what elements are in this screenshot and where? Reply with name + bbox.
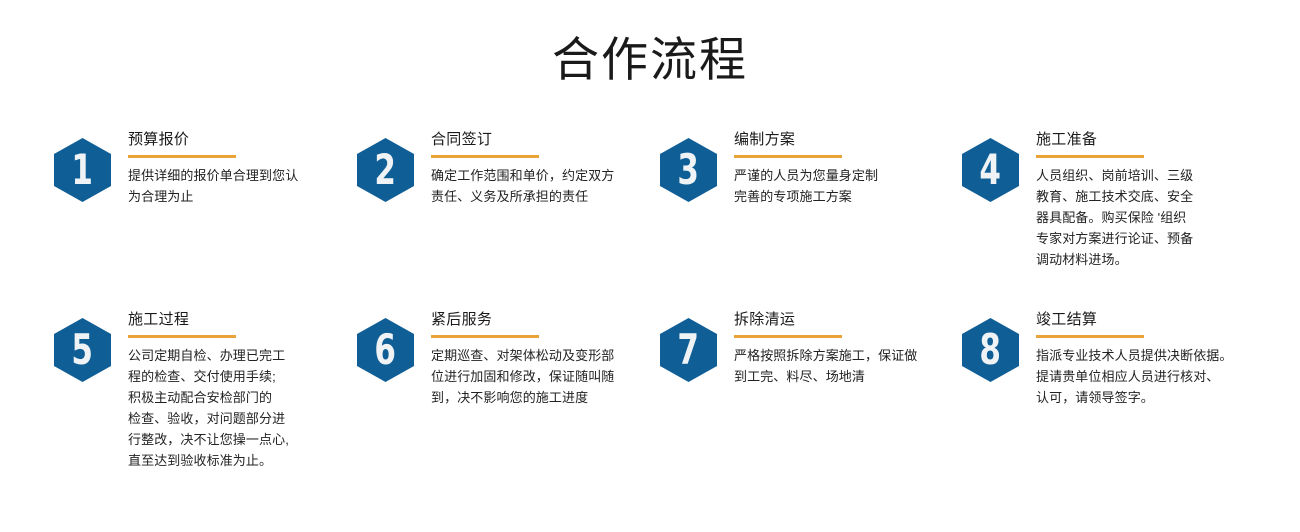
step-heading-1: 预算报价 (128, 130, 350, 150)
step-description-line: 严格按照拆除方案施工，保证做 (734, 345, 956, 366)
step-heading-3: 编制方案 (734, 130, 956, 150)
step-number-4: 4 (980, 149, 1002, 191)
hexagon-badge-8: 8 (962, 318, 1019, 382)
step-underline-4 (1036, 155, 1144, 158)
step-body-4: 施工准备 人员组织、岗前培训、三级 教育、施工技术交底、安全 器具配备。购买保险… (1036, 130, 1258, 270)
step-description-line: 责任、义务及所承担的责任 (431, 186, 653, 207)
process-step-4: 4 施工准备 人员组织、岗前培训、三级 教育、施工技术交底、安全 器具配备。购买… (958, 130, 1258, 300)
step-description-4: 人员组织、岗前培训、三级 教育、施工技术交底、安全 器具配备。购买保险 '组织 … (1036, 165, 1258, 270)
step-heading-5: 施工过程 (128, 310, 350, 330)
step-description-line: 器具配备。购买保险 '组织 (1036, 207, 1258, 228)
step-heading-2: 合同签订 (431, 130, 653, 150)
step-description-1: 提供详细的报价单合理到您认 为合理为止 (128, 165, 350, 207)
hexagon-badge-7: 7 (660, 318, 717, 382)
step-description-line: 专家对方案进行论证、预备 (1036, 228, 1258, 249)
step-description-line: 公司定期自检、办理已完工 (128, 345, 350, 366)
step-description-line: 提请贵单位相应人员进行核对、 (1036, 366, 1258, 387)
step-number-6: 6 (375, 329, 397, 371)
step-body-7: 拆除清运 严格按照拆除方案施工，保证做 到工完、料尽、场地清 (734, 310, 956, 387)
hexagon-badge-4: 4 (962, 138, 1019, 202)
step-underline-5 (128, 335, 236, 338)
process-step-6: 6 紧后服务 定期巡查、对架体松动及变形部 位进行加固和修改，保证随叫随 到，决… (353, 310, 653, 480)
step-description-2: 确定工作范围和单价，约定双方 责任、义务及所承担的责任 (431, 165, 653, 207)
hexagon-badge-3: 3 (660, 138, 717, 202)
process-step-5: 5 施工过程 公司定期自检、办理已完工 程的检查、交付使用手续; 积极主动配合安… (50, 310, 350, 480)
hexagon-badge-5: 5 (54, 318, 111, 382)
process-step-7: 7 拆除清运 严格按照拆除方案施工，保证做 到工完、料尽、场地清 (656, 310, 956, 480)
step-body-2: 合同签订 确定工作范围和单价，约定双方 责任、义务及所承担的责任 (431, 130, 653, 207)
step-number-1: 1 (72, 149, 94, 191)
step-description-line: 位进行加固和修改，保证随叫随 (431, 366, 653, 387)
step-description-line: 行整改，决不让您操一点心, (128, 429, 350, 450)
step-description-line: 确定工作范围和单价，约定双方 (431, 165, 653, 186)
step-description-5: 公司定期自检、办理已完工 程的检查、交付使用手续; 积极主动配合安检部门的 检查… (128, 345, 350, 471)
step-heading-4: 施工准备 (1036, 130, 1258, 150)
hexagon-badge-1: 1 (54, 138, 111, 202)
hexagon-badge-6: 6 (357, 318, 414, 382)
step-description-6: 定期巡查、对架体松动及变形部 位进行加固和修改，保证随叫随 到，决不影响您的施工… (431, 345, 653, 408)
step-underline-3 (734, 155, 842, 158)
step-number-3: 3 (678, 149, 700, 191)
steps-row-bottom: 5 施工过程 公司定期自检、办理已完工 程的检查、交付使用手续; 积极主动配合安… (0, 310, 1300, 480)
step-number-5: 5 (72, 329, 94, 371)
process-step-1: 1 预算报价 提供详细的报价单合理到您认 为合理为止 (50, 130, 350, 300)
step-underline-7 (734, 335, 842, 338)
step-description-line: 到，决不影响您的施工进度 (431, 387, 653, 408)
step-description-line: 完善的专项施工方案 (734, 186, 956, 207)
step-body-8: 竣工结算 指派专业技术人员提供决断依据。 提请贵单位相应人员进行核对、 认可，请… (1036, 310, 1258, 408)
process-step-3: 3 编制方案 严谨的人员为您量身定制 完善的专项施工方案 (656, 130, 956, 300)
step-underline-8 (1036, 335, 1144, 338)
step-body-3: 编制方案 严谨的人员为您量身定制 完善的专项施工方案 (734, 130, 956, 207)
step-underline-2 (431, 155, 539, 158)
step-description-line: 为合理为止 (128, 186, 350, 207)
process-step-8: 8 竣工结算 指派专业技术人员提供决断依据。 提请贵单位相应人员进行核对、 认可… (958, 310, 1258, 480)
step-description-line: 教育、施工技术交底、安全 (1036, 186, 1258, 207)
step-description-line: 认可，请领导签字。 (1036, 387, 1258, 408)
step-description-line: 积极主动配合安检部门的 (128, 387, 350, 408)
process-step-2: 2 合同签订 确定工作范围和单价，约定双方 责任、义务及所承担的责任 (353, 130, 653, 300)
step-description-8: 指派专业技术人员提供决断依据。 提请贵单位相应人员进行核对、 认可，请领导签字。 (1036, 345, 1258, 408)
step-number-2: 2 (375, 149, 397, 191)
hexagon-badge-2: 2 (357, 138, 414, 202)
step-description-3: 严谨的人员为您量身定制 完善的专项施工方案 (734, 165, 956, 207)
step-heading-8: 竣工结算 (1036, 310, 1258, 330)
step-underline-6 (431, 335, 539, 338)
step-description-line: 人员组织、岗前培训、三级 (1036, 165, 1258, 186)
step-description-line: 检查、验收，对问题部分进 (128, 408, 350, 429)
step-description-line: 直至达到验收标准为止。 (128, 450, 350, 471)
step-description-line: 到工完、料尽、场地清 (734, 366, 956, 387)
step-description-line: 定期巡查、对架体松动及变形部 (431, 345, 653, 366)
page-title: 合作流程 (0, 0, 1300, 96)
step-body-1: 预算报价 提供详细的报价单合理到您认 为合理为止 (128, 130, 350, 207)
step-description-line: 提供详细的报价单合理到您认 (128, 165, 350, 186)
step-description-line: 严谨的人员为您量身定制 (734, 165, 956, 186)
step-description-line: 调动材料进场。 (1036, 249, 1258, 270)
step-underline-1 (128, 155, 236, 158)
step-description-line: 程的检查、交付使用手续; (128, 366, 350, 387)
step-number-8: 8 (980, 329, 1002, 371)
step-heading-6: 紧后服务 (431, 310, 653, 330)
step-description-7: 严格按照拆除方案施工，保证做 到工完、料尽、场地清 (734, 345, 956, 387)
step-body-6: 紧后服务 定期巡查、对架体松动及变形部 位进行加固和修改，保证随叫随 到，决不影… (431, 310, 653, 408)
steps-row-top: 1 预算报价 提供详细的报价单合理到您认 为合理为止 2 合同签订 确定工作范围… (0, 130, 1300, 300)
step-description-line: 指派专业技术人员提供决断依据。 (1036, 345, 1258, 366)
step-number-7: 7 (678, 329, 700, 371)
step-heading-7: 拆除清运 (734, 310, 956, 330)
step-body-5: 施工过程 公司定期自检、办理已完工 程的检查、交付使用手续; 积极主动配合安检部… (128, 310, 350, 471)
